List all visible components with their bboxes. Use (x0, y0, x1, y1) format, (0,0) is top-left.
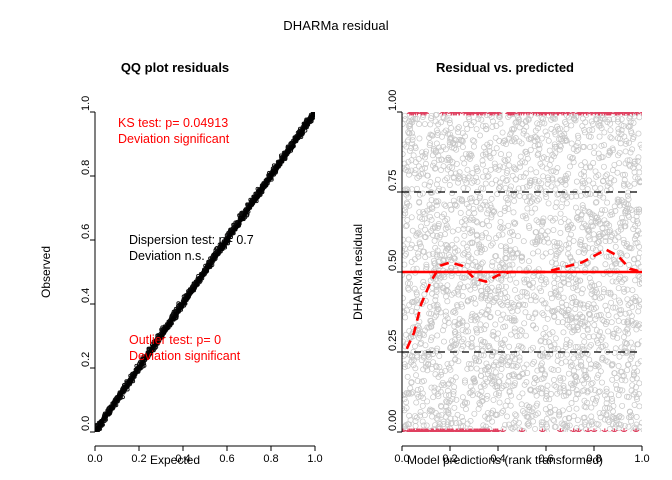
qq-panel-title: QQ plot residuals (10, 60, 340, 75)
qq-plot-canvas (95, 112, 315, 432)
qq-plot-region (95, 112, 315, 432)
residual-plot-region (402, 112, 642, 432)
residual-vs-predicted-panel: Residual vs. predicted 0.00.20.40.60.81.… (340, 60, 670, 460)
ks-test-line-1: KS test: p= 0.04913 (118, 115, 229, 131)
ks-test-annotation: KS test: p= 0.04913 Deviation significan… (118, 115, 229, 147)
outlier-test-annotation: Outlier test: p= 0 Deviation significant (129, 332, 240, 364)
res-panel-title: Residual vs. predicted (340, 60, 670, 75)
dispersion-test-line-2: Deviation n.s. (129, 248, 254, 264)
qq-x-axis-title: Expected (10, 453, 340, 467)
res-x-axis-title: Model predictions (rank transformed) (340, 453, 670, 467)
outlier-test-line-2: Deviation significant (129, 348, 240, 364)
qq-y-axis-title: Observed (39, 212, 53, 332)
dharma-residual-figure: DHARMa residual QQ plot residuals 0.00.2… (0, 0, 672, 480)
residual-plot-canvas (402, 112, 642, 432)
outlier-test-line-1: Outlier test: p= 0 (129, 332, 240, 348)
dispersion-test-line-1: Dispersion test: p= 0.7 (129, 232, 254, 248)
ks-test-line-2: Deviation significant (118, 131, 229, 147)
page-title: DHARMa residual (0, 18, 672, 33)
res-y-axis-title: DHARMa residual (351, 212, 365, 332)
dispersion-test-annotation: Dispersion test: p= 0.7 Deviation n.s. (129, 232, 254, 264)
qq-plot-panel: QQ plot residuals 0.00.20.40.60.81.0 0.0… (10, 60, 340, 460)
outlier-markers-bottom (402, 428, 639, 432)
outlier-markers-top (407, 112, 642, 115)
